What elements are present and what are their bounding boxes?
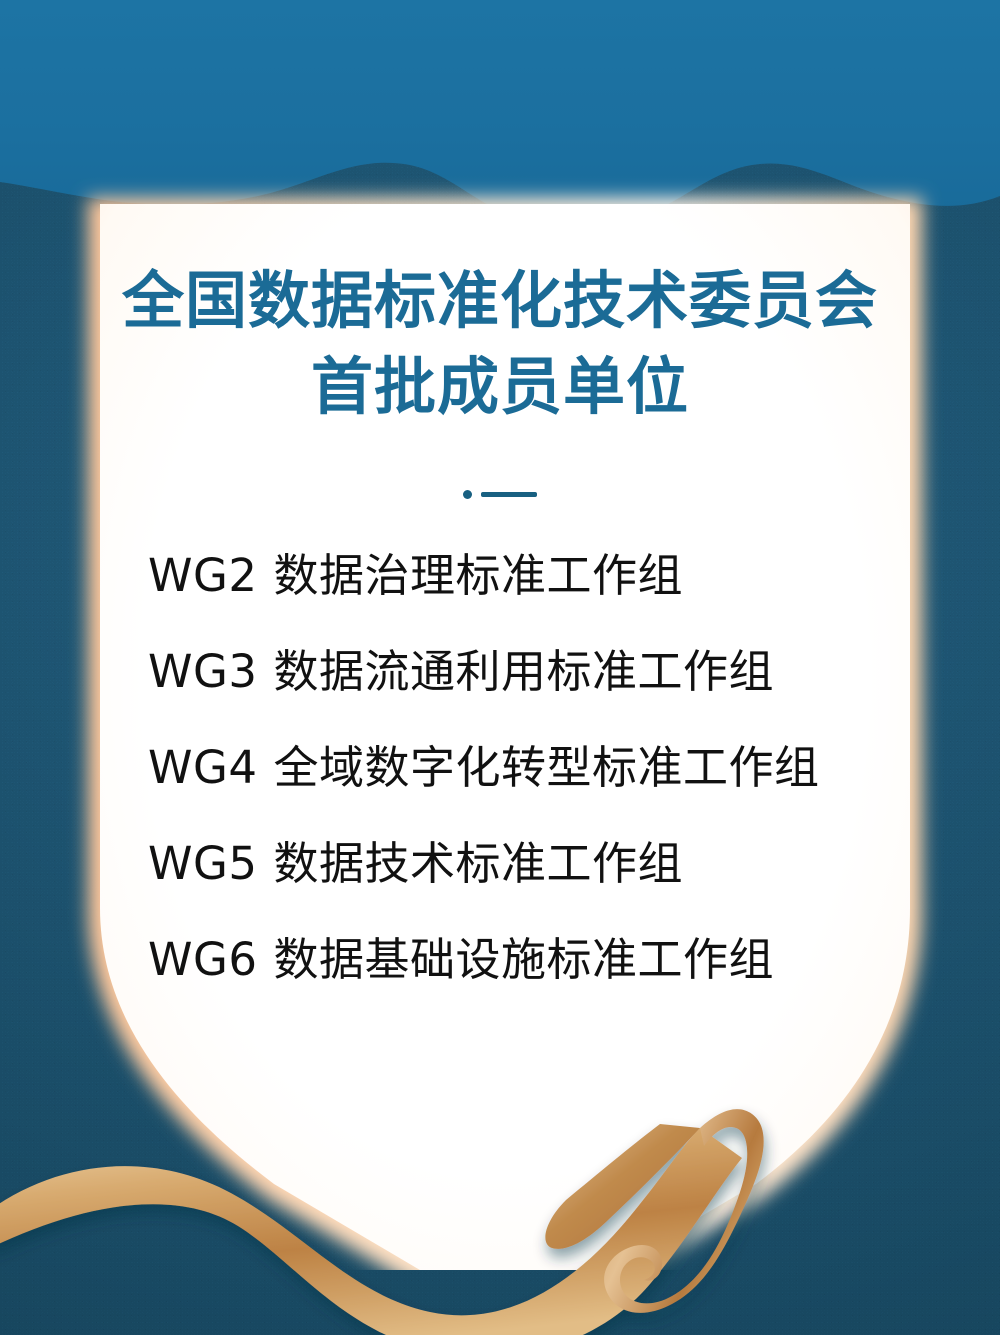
title-divider <box>100 486 900 502</box>
wg-code: WG6 <box>148 933 258 986</box>
title-line-2: 首批成员单位 <box>100 344 900 430</box>
divider-dot-icon <box>463 490 472 499</box>
poster-canvas: 全国数据标准化技术委员会 首批成员单位 WG2数据治理标准工作组 WG3数据流通… <box>0 0 1000 1335</box>
list-item: WG2数据治理标准工作组 <box>148 528 888 624</box>
wg-code: WG3 <box>148 645 258 698</box>
title-line-1: 全国数据标准化技术委员会 <box>100 258 900 344</box>
working-group-list: WG2数据治理标准工作组 WG3数据流通利用标准工作组 WG4全域数字化转型标准… <box>148 528 888 1008</box>
wg-name: 数据技术标准工作组 <box>274 837 684 890</box>
wg-name: 数据流通利用标准工作组 <box>274 645 775 698</box>
list-item: WG6数据基础设施标准工作组 <box>148 912 888 1008</box>
list-item: WG4全域数字化转型标准工作组 <box>148 720 888 816</box>
poster-content: 全国数据标准化技术委员会 首批成员单位 WG2数据治理标准工作组 WG3数据流通… <box>0 0 1000 1335</box>
divider-bar-icon <box>481 492 537 497</box>
wg-code: WG2 <box>148 549 258 602</box>
poster-title: 全国数据标准化技术委员会 首批成员单位 <box>100 258 900 430</box>
wg-name: 数据基础设施标准工作组 <box>274 933 775 986</box>
list-item: WG5数据技术标准工作组 <box>148 816 888 912</box>
list-item: WG3数据流通利用标准工作组 <box>148 624 888 720</box>
wg-name: 数据治理标准工作组 <box>274 549 684 602</box>
wg-code: WG5 <box>148 837 258 890</box>
wg-name: 全域数字化转型标准工作组 <box>274 741 820 794</box>
wg-code: WG4 <box>148 741 258 794</box>
